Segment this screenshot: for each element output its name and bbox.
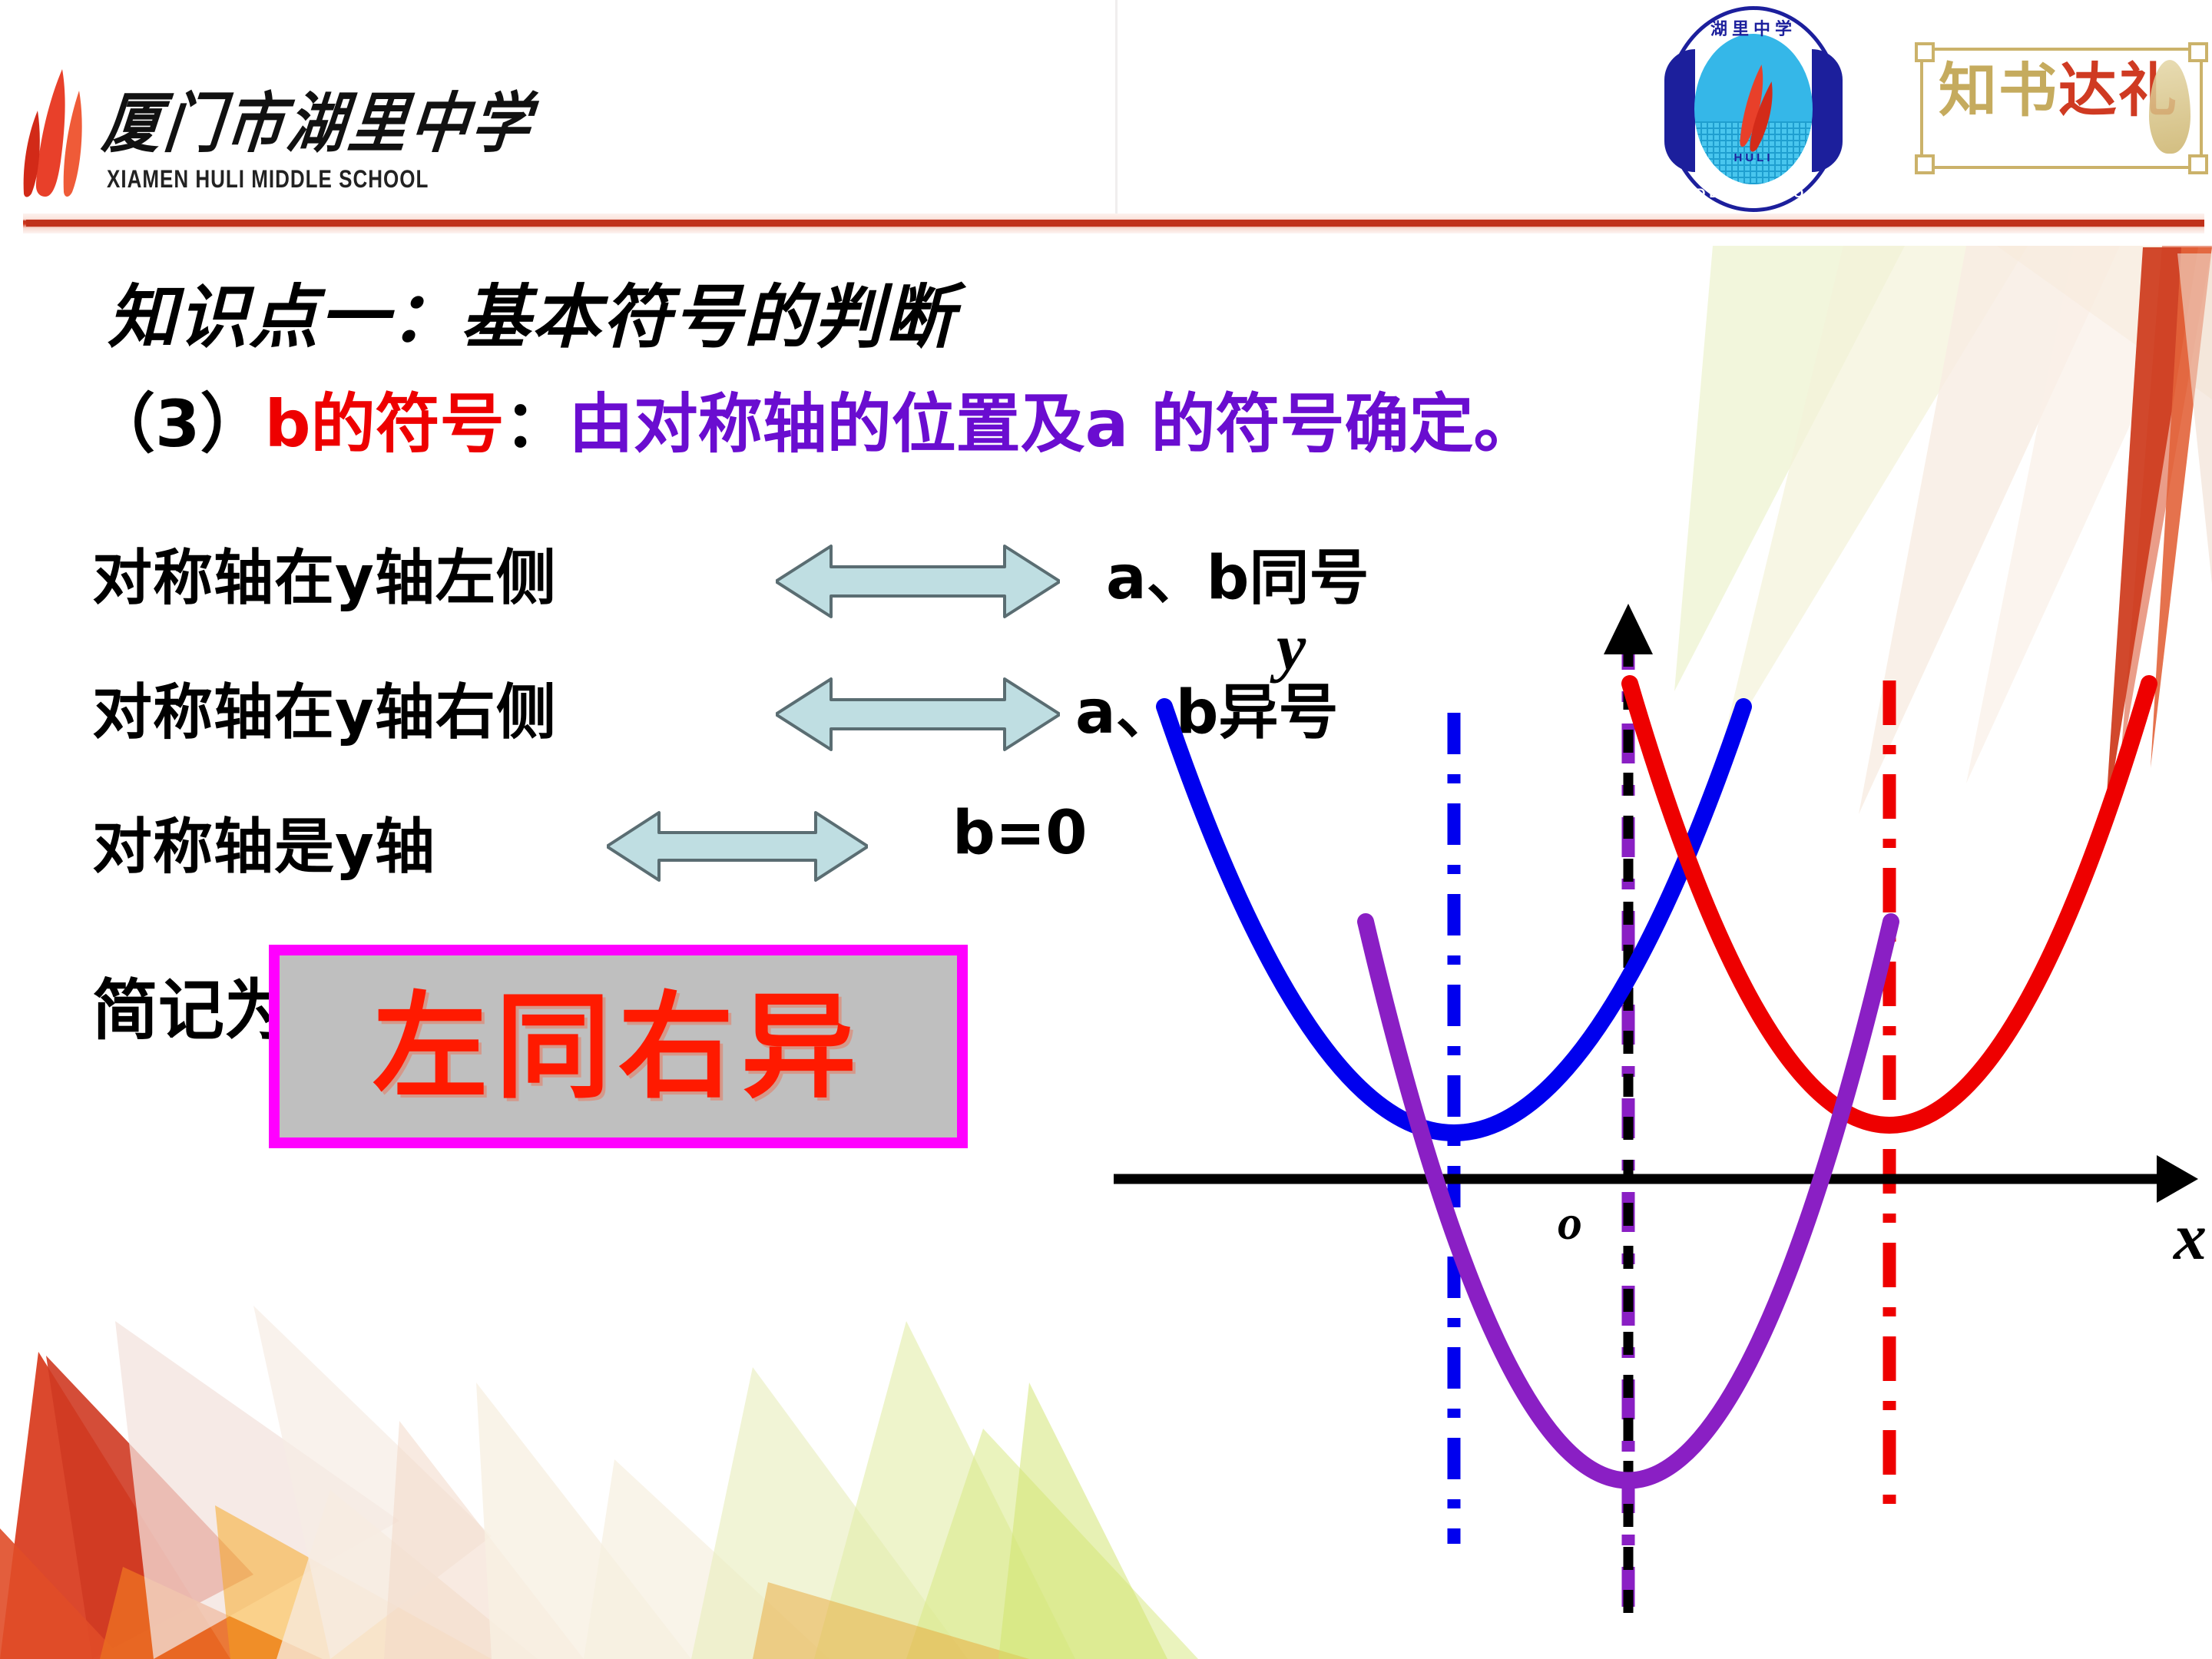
y-axis-label: y: [1277, 608, 1306, 685]
plaque-corner-bl: [1915, 154, 1935, 174]
motto-part1: 知书: [1939, 59, 2058, 124]
school-badge: 湖里中学 HULI MIDDLE SCHOOL: [1665, 6, 1842, 212]
motto-text: 知书达礼: [1939, 61, 2178, 123]
point-rule: 由对称轴的位置及a 的符号确定。: [569, 386, 1538, 462]
flame-icon: [19, 68, 104, 198]
slide-root: 厦门市湖里中学 XIAMEN HULI MIDDLE SCHOOL 湖里中学 H…: [0, 0, 2212, 1659]
school-logo-left: 厦门市湖里中学 XIAMEN HULI MIDDLE SCHOOL: [19, 68, 426, 198]
motto-plaque: 知书达礼: [1920, 48, 2203, 169]
badge-en-line1: HULI: [1665, 151, 1842, 164]
plaque-corner-tr: [2188, 42, 2208, 62]
slide-header: 厦门市湖里中学 XIAMEN HULI MIDDLE SCHOOL 湖里中学 H…: [0, 0, 2212, 230]
badge-en-line2: MIDDLE SCHOOL: [1665, 186, 1842, 201]
mnemonic-box-inner: 左同右异: [280, 955, 957, 1137]
plaque-figure-ornament: [2149, 60, 2190, 154]
rule-3-condition: 对称轴是y轴: [92, 799, 435, 885]
rule-3-result: b=0: [952, 799, 1087, 868]
point-term: b的符号: [264, 386, 504, 462]
plaque-corner-br: [2188, 154, 2208, 174]
origin-label: o: [1558, 1194, 1582, 1251]
y-axis-arrowhead: [1604, 604, 1653, 654]
mnemonic-text: 左同右异: [373, 989, 864, 1104]
point-line: （3）b的符号：由对称轴的位置及a 的符号确定。: [91, 373, 1538, 465]
page-title: 知识点一：基本符号的判断: [108, 261, 955, 361]
graph-svg: [1098, 584, 2212, 1659]
point-colon: ：: [505, 386, 569, 462]
school-name-cn: 厦门市湖里中学: [99, 70, 539, 164]
x-axis-label: x: [2174, 1198, 2207, 1275]
rule-2-condition: 对称轴在y轴右侧: [92, 664, 557, 750]
header-vertical-divider: [1115, 0, 1118, 219]
badge-cn-text: 湖里中学: [1665, 15, 1842, 40]
plaque-corner-tl: [1915, 42, 1935, 62]
mnemonic-box: 左同右异: [269, 945, 968, 1148]
school-name-en: XIAMEN HULI MIDDLE SCHOOL: [107, 164, 429, 194]
equivalence-arrow-icon-3: [607, 808, 868, 885]
point-number: （3）: [91, 386, 264, 462]
x-axis-arrowhead: [2157, 1155, 2198, 1203]
rule-1-condition: 对称轴在y轴左侧: [92, 530, 557, 616]
equivalence-arrow-icon-2: [776, 674, 1060, 755]
parabola-graph: y x o: [1098, 584, 2212, 1659]
equivalence-arrow-icon-1: [776, 541, 1060, 622]
header-rule: [26, 220, 2204, 227]
